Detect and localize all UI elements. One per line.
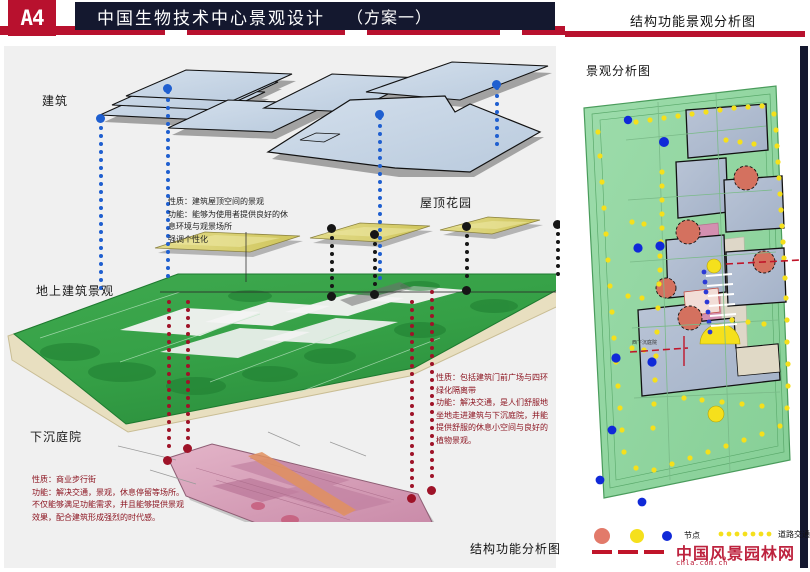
connector-dark-3 [465, 226, 469, 290]
connector-node-dark-1b [327, 292, 336, 301]
connector-node-dark-2b [370, 290, 379, 299]
connector-node-blue-2 [163, 84, 172, 93]
legend-dash-2 [618, 550, 638, 554]
legend-swatch-blue [662, 531, 672, 541]
site-plan-note: 西下沉庭院 [632, 339, 657, 346]
connector-red-4 [430, 290, 434, 488]
connector-node-red-4 [427, 486, 436, 495]
connector-node-blue-3 [375, 110, 384, 119]
legend-swatch-yellow [630, 529, 644, 543]
note-roof-garden: 性质：建筑屋顶空间的景观 功能：能够为使用者提供良好的休 息环境与观景场所 强调… [168, 196, 328, 246]
connector-node-dark-3b [462, 286, 471, 295]
connector-node-red-1 [163, 456, 172, 465]
connector-node-dark-3 [462, 222, 471, 231]
connector-blue-3 [378, 116, 382, 292]
legend-dash-1 [592, 550, 612, 554]
label-roof-garden: 屋顶花园 [420, 194, 472, 211]
connector-dark-2 [373, 234, 377, 296]
connector-node-dark-2 [370, 230, 379, 239]
right-panel-edge [800, 46, 808, 568]
connector-node-red-3 [407, 494, 416, 503]
right-panel-title: 景观分析图 [586, 62, 651, 79]
label-ground-landscape: 地上建筑景观 [36, 282, 114, 299]
legend-label-road: 道路交通 [778, 529, 810, 540]
connector-blue-1 [99, 118, 103, 298]
connector-red-1 [167, 300, 171, 458]
connector-red-2 [186, 300, 190, 446]
legend-swatch-salmon [594, 528, 610, 544]
connector-node-blue-4 [492, 80, 501, 89]
site-plan-diagram: 西下沉庭院 [566, 80, 800, 520]
header-red-strip-right [565, 31, 805, 37]
connector-blue-2 [166, 90, 170, 290]
connector-blue-4 [495, 86, 499, 156]
legend-dash-3 [644, 550, 664, 554]
label-architecture: 建筑 [42, 92, 68, 109]
connector-node-red-2 [183, 444, 192, 453]
watermark-url: chla.com.cn [676, 559, 728, 567]
connector-node-dark-1 [327, 224, 336, 233]
presentation-board: A4 中国生物技术中心景观设计 （方案一） 结构功能景观分析图 [0, 0, 810, 572]
left-panel-caption: 结构功能分析图 [470, 540, 561, 557]
connector-red-3 [410, 300, 414, 496]
connector-node-blue-1 [96, 114, 105, 123]
note-sunken-courtyard: 性质：商业步行街 功能：解决交通，景观，休息停留等场所。 不仅能够满足功能需求，… [32, 474, 247, 524]
label-sunken-courtyard: 下沉庭院 [30, 428, 82, 445]
header-right-title: 结构功能景观分析图 [630, 11, 756, 30]
plaza-yellow-node [707, 259, 721, 273]
connector-dark-1 [330, 228, 334, 294]
legend-road-dots [718, 530, 776, 538]
